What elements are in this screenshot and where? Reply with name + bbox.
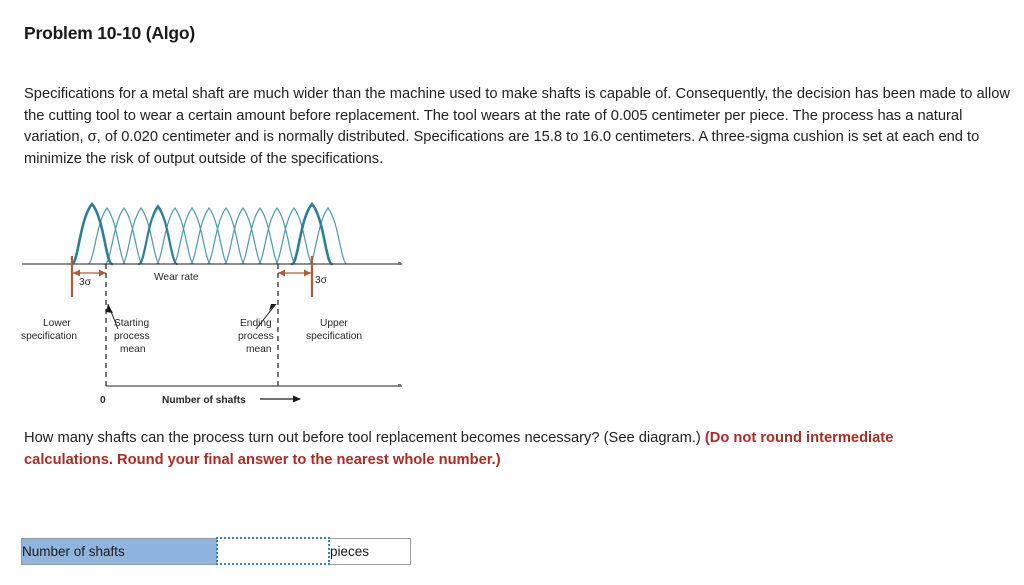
bell-curve [258,208,296,264]
bell-curve-ending [292,204,332,264]
question-block: How many shafts can the process turn out… [24,428,984,471]
axis-end-marker [398,262,401,265]
starting-mean-label-line2: process [114,331,150,342]
ending-mean-label-line3: mean [246,344,271,355]
ending-mean-arrowhead [269,304,276,311]
answer-row-label: Number of shafts [22,538,218,564]
ending-mean-label-line1: Ending [240,318,272,329]
bell-curve [190,208,228,264]
sigma-arrow-right [278,270,311,277]
origin-label: 0 [100,395,106,406]
upper-specification-label-line2: specification [306,331,362,342]
bell-curve [224,208,262,264]
starting-mean-arrowhead [106,304,113,313]
bell-curve [241,208,279,264]
starting-mean-label-line1: Starting [114,318,149,329]
bell-curve-group [72,204,347,264]
bell-curve [275,208,313,264]
bottom-axis-end-marker [398,384,401,387]
wear-rate-label: Wear rate [154,272,199,283]
bell-curve [122,208,160,264]
x-axis-label: Number of shafts [162,395,246,406]
upper-specification-label-line1: Upper [320,318,348,329]
answer-table: Number of shafts pieces [21,537,411,565]
bell-curve [139,208,177,264]
starting-mean-label-line3: mean [120,344,145,355]
bell-curve [207,208,245,264]
question-text: How many shafts can the process turn out… [24,430,705,446]
problem-statement: Specifications for a metal shaft are muc… [24,84,1020,170]
answer-input-cell[interactable] [217,538,329,564]
lower-specification-label-line1: Lower [43,318,71,329]
x-axis-arrow [260,396,301,403]
bell-curve [156,208,194,264]
bell-curve [105,208,143,264]
sigma-label-right: 3σ [315,275,328,286]
page-title: Problem 10-10 (Algo) [24,23,195,44]
lower-specification-label-line2: specification [21,331,77,342]
wear-rate-diagram: 3σ 3σ Wear rate Lower specification Star… [10,192,420,407]
number-of-shafts-input[interactable] [218,541,328,561]
bell-curve [173,208,211,264]
ending-mean-label-line2: process [238,331,274,342]
answer-unit-label: pieces [329,538,411,564]
sigma-label-left: 3σ [79,277,92,288]
sigma-arrow-left [73,270,106,277]
table-row: Number of shafts pieces [22,538,411,564]
diagram-svg: 3σ 3σ Wear rate Lower specification Star… [10,192,420,407]
